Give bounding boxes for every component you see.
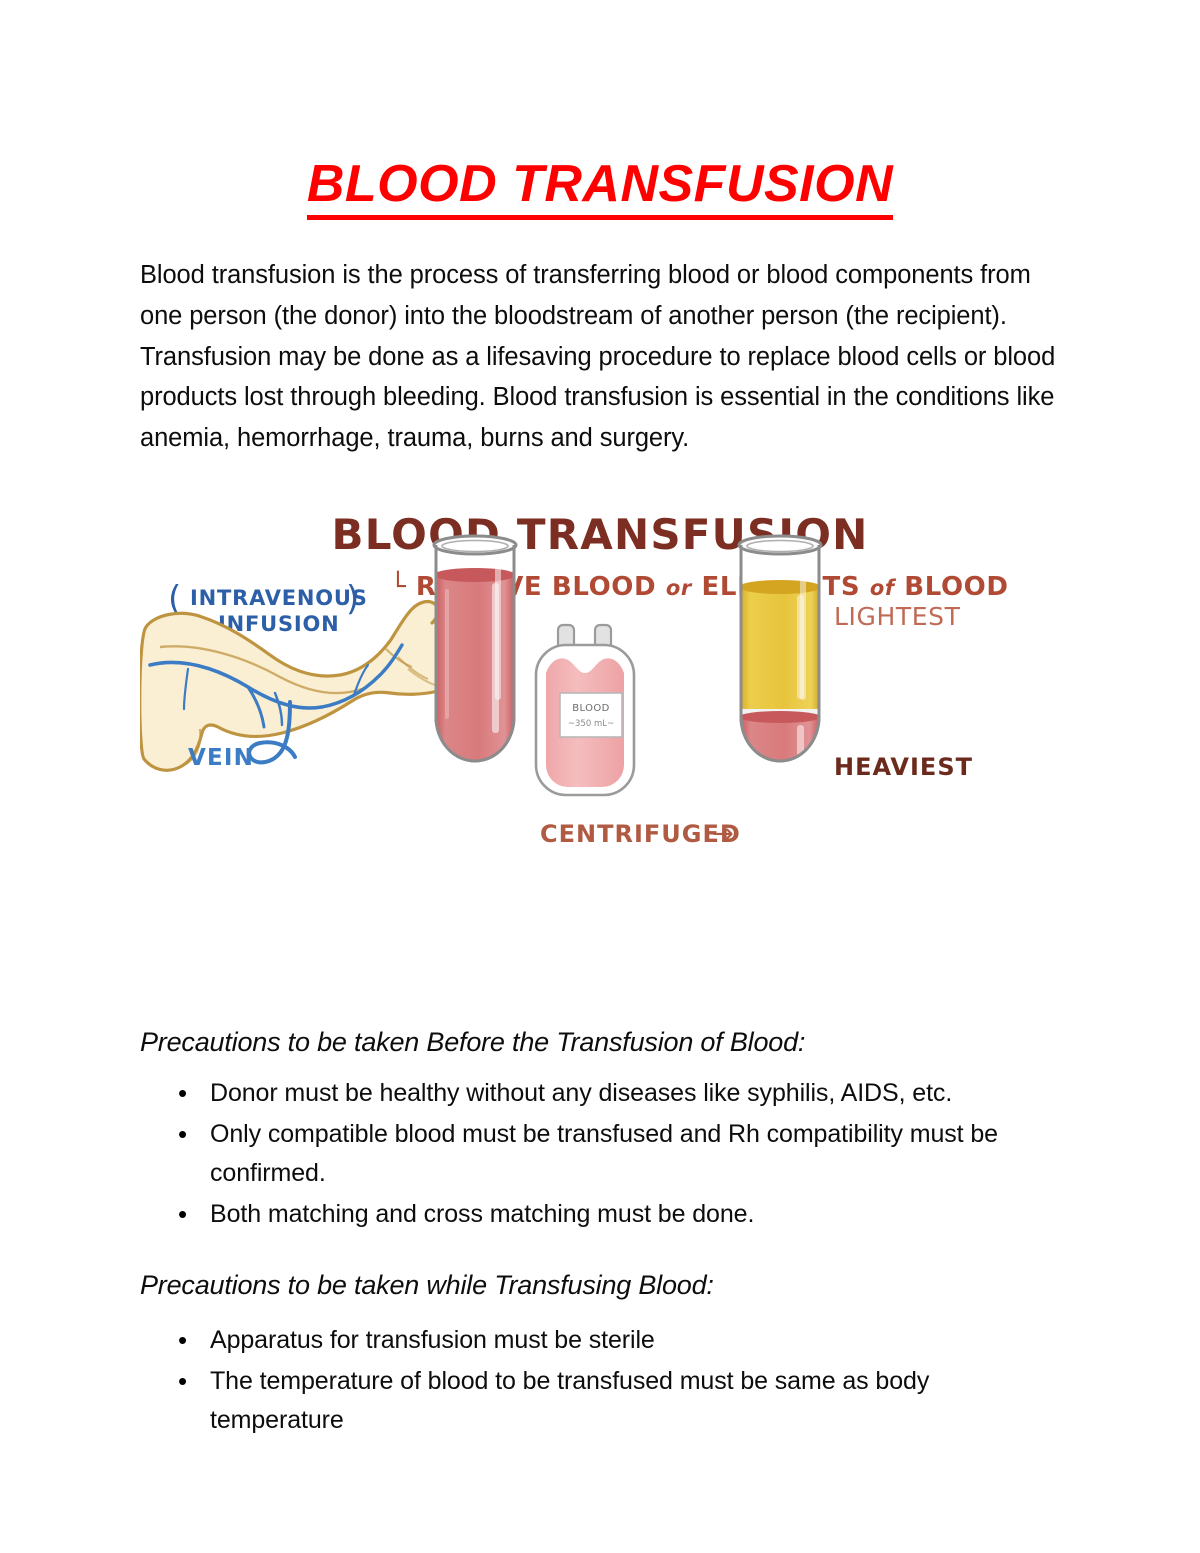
blood-transfusion-illustration: BLOOD TRANSFUSION └ RECEIVE BLOOD or ELE… bbox=[140, 497, 1060, 997]
svg-text:~350 mL~: ~350 mL~ bbox=[568, 719, 614, 729]
blood-bag-label bbox=[560, 693, 622, 737]
precautions-while-list: Apparatus for transfusion must be steril… bbox=[140, 1301, 1060, 1440]
svg-text:CENTRIFUGED: CENTRIFUGED bbox=[540, 820, 741, 848]
document-content: BLOOD TRANSFUSION Blood transfusion is t… bbox=[140, 0, 1060, 1442]
section-heading-while-transfusing: Precautions to be taken while Transfusin… bbox=[140, 1236, 1060, 1301]
list-item: Apparatus for transfusion must be steril… bbox=[140, 1321, 1060, 1360]
page-title: BLOOD TRANSFUSION bbox=[140, 0, 1060, 220]
lightest-label: LIGHTEST bbox=[834, 602, 961, 631]
page-title-text: BLOOD TRANSFUSION bbox=[307, 158, 893, 220]
centrifuged-label: CENTRIFUGED → bbox=[540, 819, 741, 849]
svg-text:→: → bbox=[712, 819, 734, 849]
svg-text:INTRAVENOUS: INTRAVENOUS bbox=[190, 586, 368, 610]
list-item: Both matching and cross matching must be… bbox=[140, 1195, 1060, 1234]
svg-text:BLOOD: BLOOD bbox=[572, 703, 610, 714]
precautions-before-list: Donor must be healthy without any diseas… bbox=[140, 1058, 1060, 1234]
list-item: Donor must be healthy without any diseas… bbox=[140, 1074, 1060, 1113]
test-tube-centrifuged bbox=[739, 536, 821, 786]
intro-paragraph: Blood transfusion is the process of tran… bbox=[140, 220, 1060, 459]
svg-text:): ) bbox=[346, 579, 359, 619]
section-heading-before-transfusion: Precautions to be taken Before the Trans… bbox=[140, 997, 1060, 1058]
list-item: The temperature of blood to be transfuse… bbox=[140, 1362, 1060, 1440]
vein-label: VEIN bbox=[188, 745, 254, 771]
blood-bag: BLOOD ~350 mL~ bbox=[536, 625, 634, 795]
test-tube-whole-blood bbox=[434, 536, 516, 775]
list-item: Only compatible blood must be transfused… bbox=[140, 1115, 1060, 1193]
heaviest-label: HEAVIEST bbox=[834, 753, 973, 781]
document-page: BLOOD TRANSFUSION Blood transfusion is t… bbox=[0, 0, 1200, 1553]
